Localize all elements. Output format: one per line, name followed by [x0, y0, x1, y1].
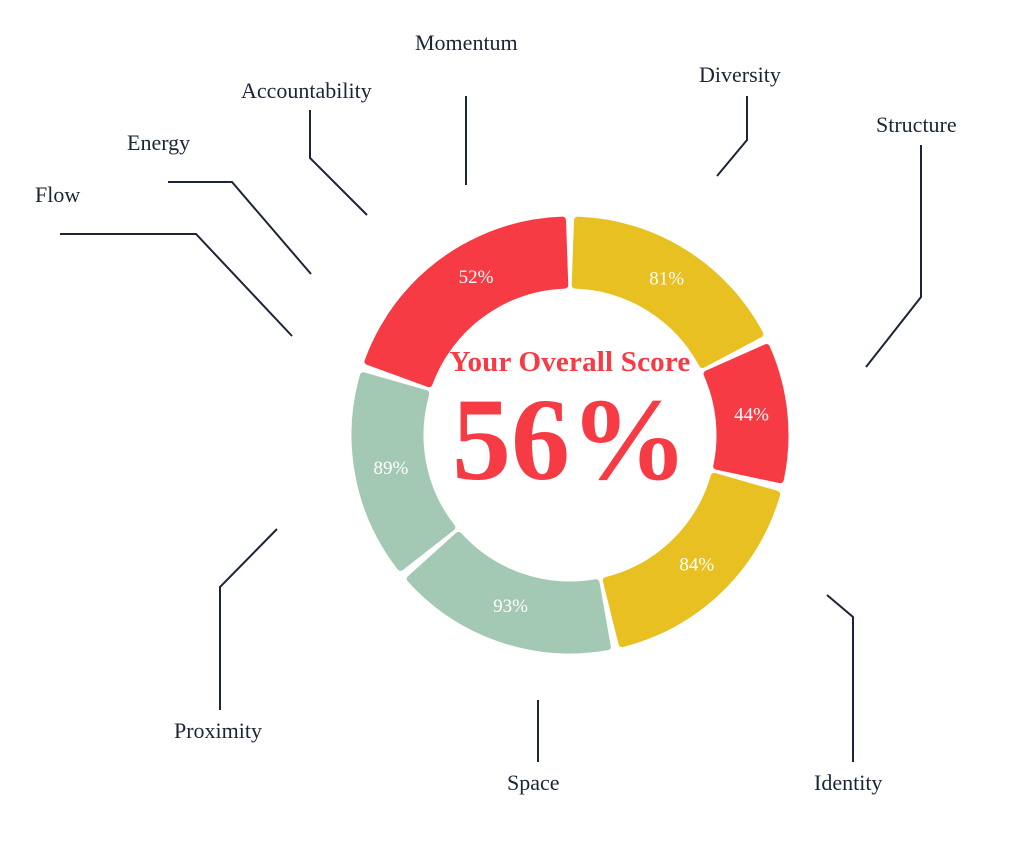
leader-lines — [60, 96, 921, 762]
donut-chart-figure: 52% 81% 44% 84% 93% 89% Momentum Diversi… — [0, 0, 1026, 848]
slice-value-structure: 44% — [734, 404, 769, 425]
label-flow[interactable]: Flow — [35, 184, 80, 206]
slice-value-diversity: 81% — [649, 269, 684, 290]
label-proximity[interactable]: Proximity — [174, 720, 262, 742]
leader-line-diversity — [717, 96, 747, 176]
label-energy[interactable]: Energy — [127, 132, 190, 154]
label-structure[interactable]: Structure — [876, 114, 957, 136]
leader-line-flow — [60, 234, 292, 336]
slice-value-space: 93% — [493, 596, 528, 617]
leader-line-energy — [168, 182, 311, 274]
label-accountability[interactable]: Accountability — [241, 80, 372, 102]
label-diversity[interactable]: Diversity — [699, 64, 781, 86]
slice-value-proximity: 89% — [373, 458, 408, 479]
leader-line-proximity — [220, 529, 277, 710]
label-momentum[interactable]: Momentum — [415, 32, 518, 54]
slice-value-momentum: 52% — [459, 267, 494, 288]
leader-line-structure — [866, 145, 921, 367]
slice-value-identity: 84% — [679, 555, 714, 576]
label-identity[interactable]: Identity — [814, 772, 882, 794]
label-space[interactable]: Space — [507, 772, 560, 794]
donut-chart-svg: 52% 81% 44% 84% 93% 89% — [0, 0, 1026, 848]
slice-space[interactable] — [410, 535, 607, 650]
donut-slices — [355, 220, 785, 650]
leader-line-identity — [827, 595, 853, 762]
leader-line-accountability — [310, 110, 367, 215]
slice-diversity[interactable] — [575, 220, 760, 364]
